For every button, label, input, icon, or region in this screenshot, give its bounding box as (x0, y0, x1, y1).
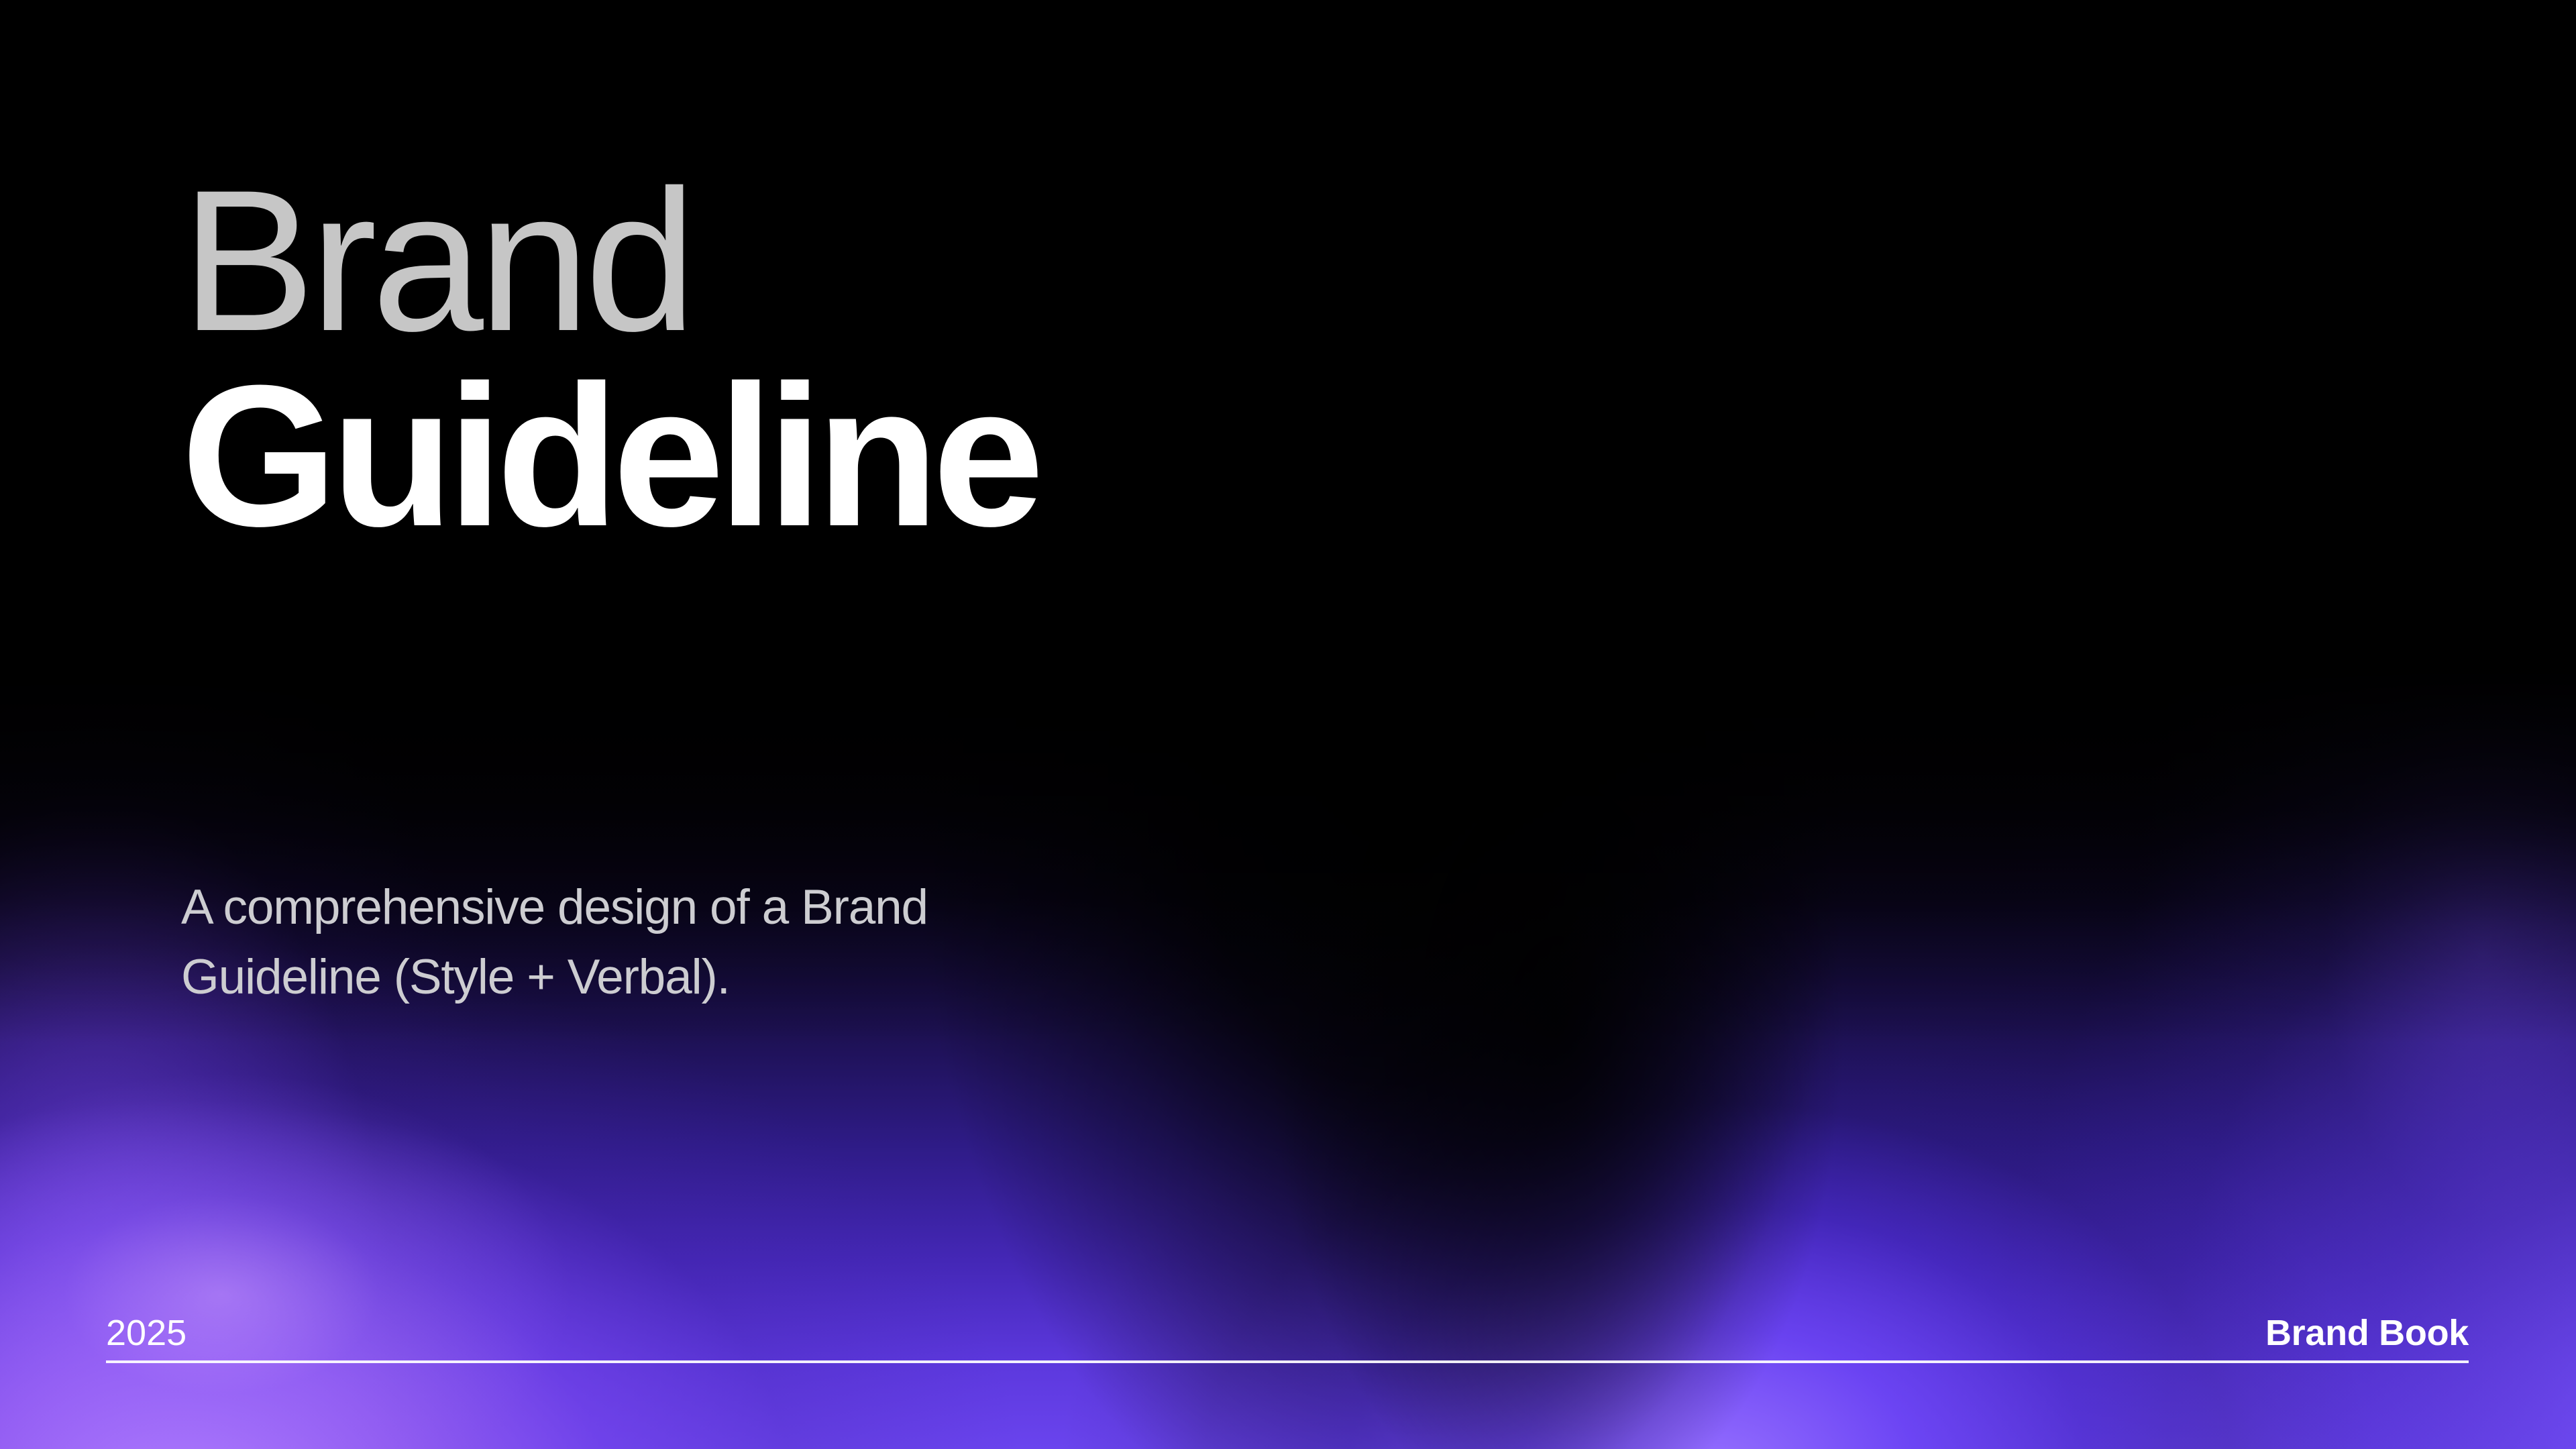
footer-label: Brand Book (2265, 1312, 2469, 1354)
title-word-brand: Brand (181, 163, 1038, 358)
brand-guideline-cover-slide: Brand Guideline A comprehensive design o… (0, 0, 2576, 1449)
footer: 2025 Brand Book (106, 1305, 2469, 1354)
footer-year: 2025 (106, 1312, 186, 1354)
page-title: Brand Guideline (181, 163, 1038, 553)
title-word-guideline: Guideline (181, 358, 1038, 553)
footer-row: 2025 Brand Book (106, 1305, 2469, 1354)
footer-divider (106, 1360, 2469, 1363)
subtitle-text: A comprehensive design of a Brand Guidel… (181, 873, 928, 1012)
slide-content: Brand Guideline A comprehensive design o… (0, 0, 2576, 1449)
